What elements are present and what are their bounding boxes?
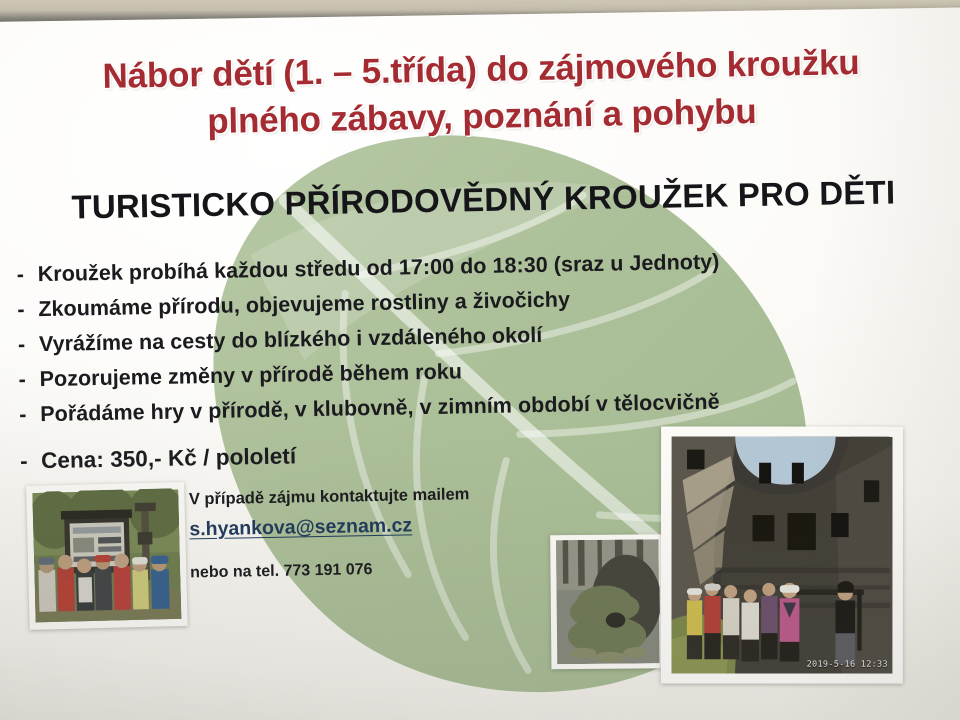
photo-forest-shelter (550, 534, 665, 669)
photo-castle-ruins-group: 2019-5-16 12:33 (661, 426, 903, 683)
contact-block: V případě zájmu kontaktujte mailem s.hya… (189, 483, 521, 583)
email-link[interactable]: s.hyankova@seznam.cz (189, 515, 412, 540)
photo-timestamp: 2019-5-16 12:33 (807, 660, 888, 670)
price-label: Cena: 350,- Kč / pololetí (41, 438, 297, 478)
bullet-marker: - (17, 292, 39, 327)
bullet-marker: - (18, 327, 40, 362)
contact-intro: V případě zájmu kontaktujte mailem (189, 483, 519, 510)
phone-label: nebo na tel. 773 191 076 (190, 556, 520, 583)
bullet-marker: - (16, 257, 38, 292)
poster-photo-scene: Nábor dětí (1. – 5.třída) do zájmového k… (0, 0, 960, 720)
page-title: TURISTICKO PŘÍRODOVĚDNÝ KROUŽEK PRO DĚTI (3, 172, 960, 228)
bullet-marker: - (18, 362, 40, 397)
poster-content: Nábor dětí (1. – 5.třída) do zájmového k… (0, 0, 960, 720)
bullet-marker: - (20, 443, 42, 478)
bullet-marker: - (19, 397, 41, 432)
photo-children-info-board (26, 482, 188, 630)
poster-headline: Nábor dětí (1. – 5.třída) do zájmového k… (1, 37, 960, 149)
printed-poster-sheet: Nábor dětí (1. – 5.třída) do zájmového k… (0, 7, 960, 720)
